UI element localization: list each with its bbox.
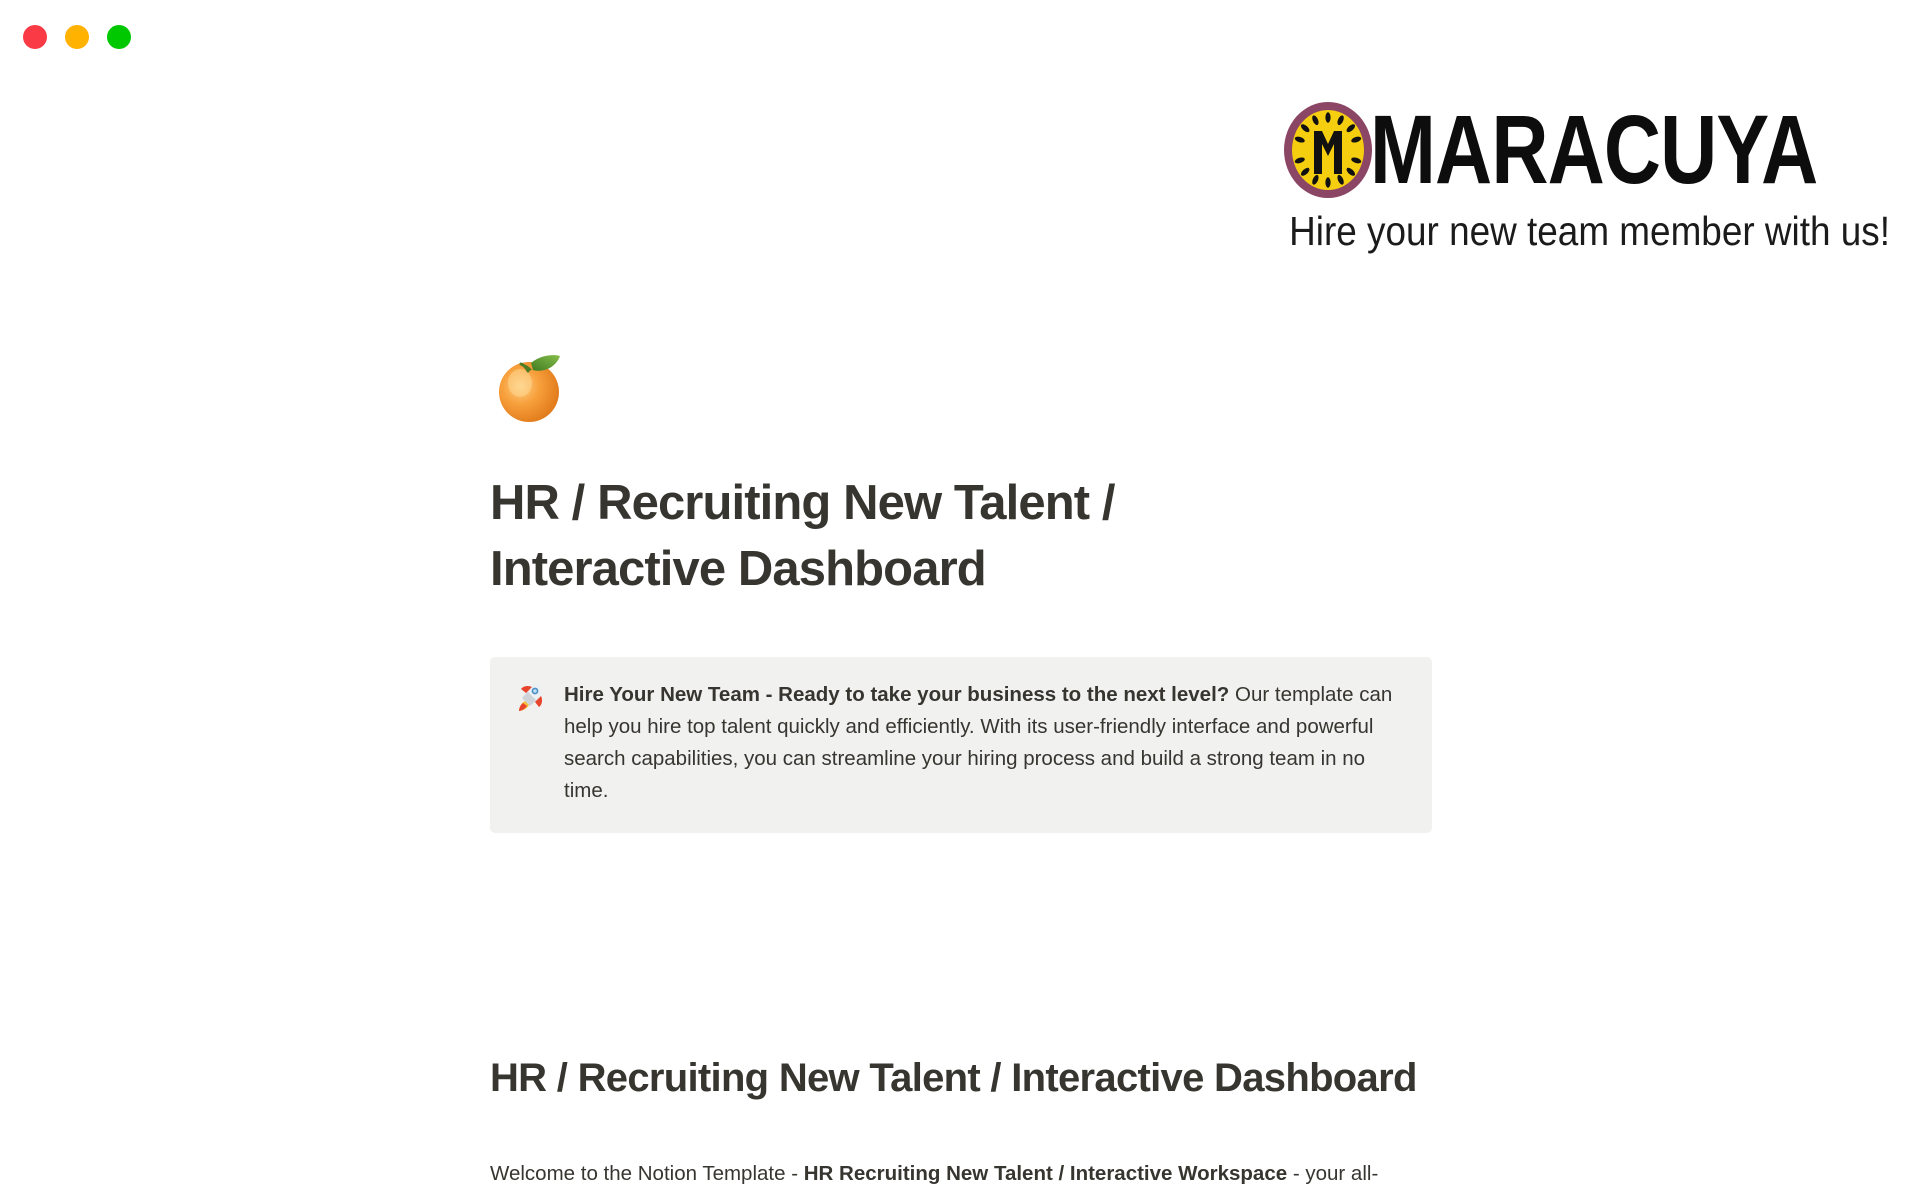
- section-paragraph-before: Welcome to the Notion Template -: [490, 1162, 804, 1185]
- brand-block: MARACUYA Hire your new team member with …: [1170, 100, 1890, 256]
- close-window-button[interactable]: [23, 25, 47, 49]
- rocket-emoji-icon: [516, 679, 546, 713]
- page-title: HR / Recruiting New Talent / Interactive…: [490, 470, 1220, 602]
- window-controls: [23, 25, 131, 49]
- brand-wordmark: MARACUYA: [1370, 99, 1817, 201]
- maximize-window-button[interactable]: [107, 25, 131, 49]
- brand-lockup: MARACUYA: [1170, 100, 1890, 200]
- section-heading: HR / Recruiting New Talent / Interactive…: [490, 1050, 1450, 1106]
- tangerine-emoji-icon[interactable]: [490, 345, 570, 425]
- section-paragraph-bold: HR Recruiting New Talent / Interactive W…: [804, 1162, 1287, 1185]
- brand-tagline: Hire your new team member with us!: [1242, 206, 1890, 256]
- callout-block: Hire Your New Team - Ready to take your …: [490, 657, 1432, 833]
- minimize-window-button[interactable]: [65, 25, 89, 49]
- callout-lead: Hire Your New Team - Ready to take your …: [564, 683, 1229, 706]
- window-title-bar: [0, 0, 1920, 75]
- passion-fruit-emblem-icon: [1282, 100, 1374, 200]
- section-paragraph-after: - your all-: [1287, 1162, 1378, 1185]
- app-window: MARACUYA Hire your new team member with …: [0, 0, 1920, 1200]
- callout-text: Hire Your New Team - Ready to take your …: [564, 679, 1402, 807]
- section-paragraph: Welcome to the Notion Template - HR Recr…: [490, 1158, 1450, 1190]
